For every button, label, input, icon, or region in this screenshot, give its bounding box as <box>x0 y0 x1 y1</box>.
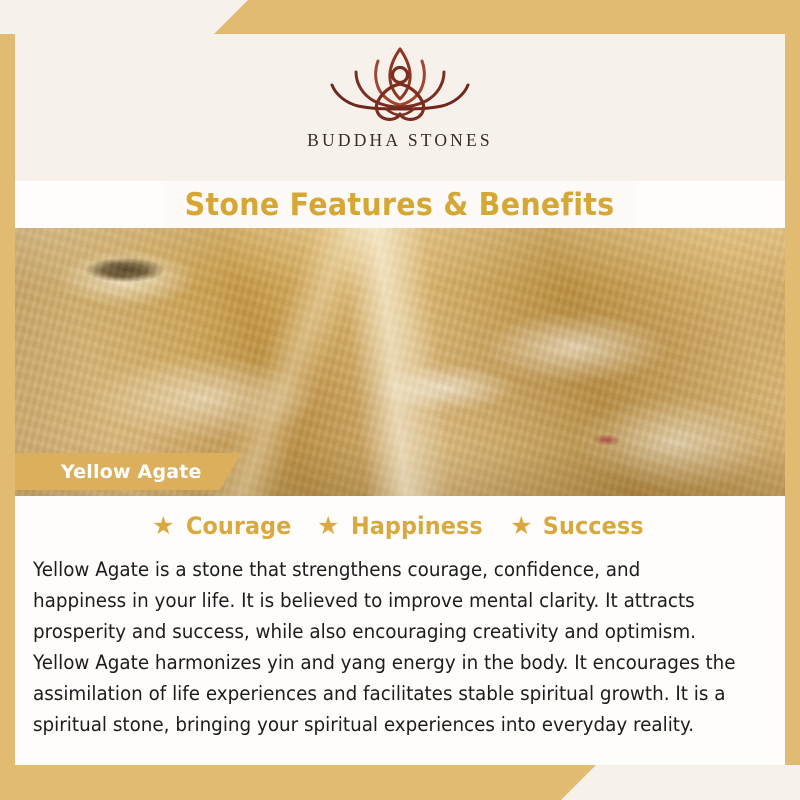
star-icon: ★ <box>510 514 532 539</box>
lotus-meditation-icon <box>316 39 484 127</box>
section-title-banner: Stone Features & Benefits <box>165 181 635 228</box>
benefit-item-success: ★ Success <box>510 512 648 540</box>
star-icon: ★ <box>152 514 174 539</box>
stone-name-ribbon: Yellow Agate <box>15 453 242 490</box>
infographic-page: BUDDHA STONES Stone Features & Benefits … <box>0 0 800 800</box>
border-edge-left <box>0 34 15 800</box>
benefit-label: Happiness <box>351 512 483 540</box>
corner-decor-top-right <box>214 0 800 34</box>
stone-image: Yellow Agate <box>15 228 785 496</box>
stone-name: Yellow Agate <box>61 461 202 483</box>
benefit-label: Success <box>543 512 644 540</box>
stone-description: Yellow Agate is a stone that strengthens… <box>33 554 736 740</box>
benefits-row: ★ Courage ★ Happiness ★ Success <box>15 512 785 540</box>
content-card: BUDDHA STONES Stone Features & Benefits … <box>15 34 785 765</box>
benefit-item-courage: ★ Courage <box>152 512 295 540</box>
benefit-item-happiness: ★ Happiness <box>317 512 488 540</box>
brand-header: BUDDHA STONES <box>15 34 785 181</box>
star-icon: ★ <box>317 514 339 539</box>
page-title: Stone Features & Benefits <box>185 187 615 223</box>
border-edge-right <box>785 0 800 765</box>
corner-decor-bottom-left <box>0 765 596 800</box>
benefit-label: Courage <box>186 512 291 540</box>
brand-name: BUDDHA STONES <box>307 130 493 151</box>
